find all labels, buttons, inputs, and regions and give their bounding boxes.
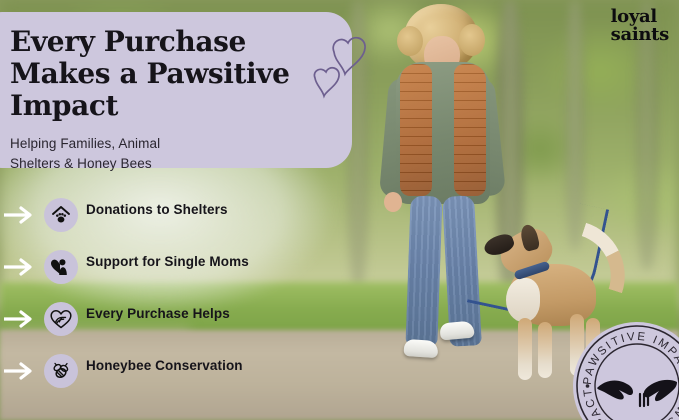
leg [405,195,442,346]
house-paw-icon [44,198,78,232]
feature-label: Honeybee Conservation [86,358,243,373]
subtitle-line-2: Shelters & Honey Bees [10,154,332,174]
subtitle: Helping Families, Animal Shelters & Hone… [10,134,332,174]
woman-figure [378,0,518,420]
feature-label: Donations to Shelters [86,202,228,217]
heart-hand-icon [44,302,78,336]
feature-item-single-moms: Support for Single Moms [0,242,300,294]
headline-line-3: Impact [10,90,332,122]
dog-chest [506,278,540,322]
vest-left-panel [400,64,432,196]
seal-dot [586,384,590,388]
dog-leg [518,318,532,380]
page-title: Every Purchase Makes a Pawsitive Impact [10,26,332,122]
heart-person-icon [44,250,78,284]
brand-logo: loyal saints [611,8,669,44]
hand-and-paw-icon [597,380,677,406]
promotional-banner: Every Purchase Makes a Pawsitive Impact … [0,0,679,420]
subtitle-line-1: Helping Families, Animal [10,134,332,154]
vest-right-panel [454,64,486,196]
feature-item-purchase-helps: Every Purchase Helps [0,294,300,346]
logo-line-2: saints [611,26,669,44]
heart-doodles [312,22,382,102]
headline-panel: Every Purchase Makes a Pawsitive Impact … [0,12,352,168]
feature-item-donations: Donations to Shelters [0,190,300,242]
feature-list: Donations to Shelters Support for Single… [0,190,300,398]
headline-line-1: Every Purchase [10,26,332,58]
heart-icon [333,38,365,74]
sneaker [403,339,438,358]
feature-item-honeybee: Honeybee Conservation [0,346,300,398]
arrow-right-icon [4,258,38,276]
arrow-right-icon [4,206,38,224]
sneaker [439,321,474,341]
bee-icon [44,354,78,388]
headline-line-2: Makes a Pawsitive [10,58,332,90]
heart-icon [314,68,339,96]
arrow-right-icon [4,362,38,380]
hand [384,192,402,212]
pawsitive-impact-seal: PAWSITIVE IMPACT PAWSITIVE IMPACT [573,322,679,420]
dog-leg [538,322,552,378]
dog-ear [519,223,541,252]
puffer-vest [400,64,486,196]
feature-label: Support for Single Moms [86,254,249,269]
arrow-right-icon [4,310,38,328]
feature-label: Every Purchase Helps [86,306,230,321]
